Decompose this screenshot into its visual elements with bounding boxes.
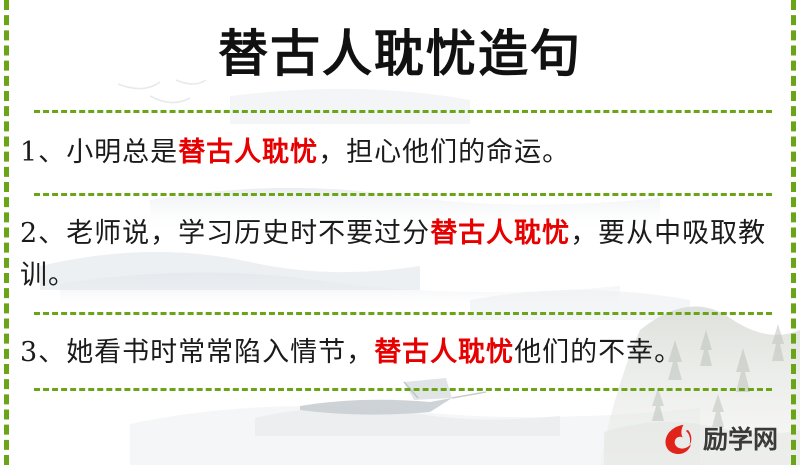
sentence-2-before: 老师说，学习历史时不要过分: [66, 218, 430, 249]
separator-top: [34, 110, 772, 113]
sentence-item-2: 2、老师说，学习历史时不要过分替古人耽忧，要从中吸取教训。: [20, 213, 774, 297]
frame-border-left: [4, 0, 9, 465]
sentence-1-index: 1、: [20, 137, 66, 168]
page-title: 替古人耽忧造句: [0, 14, 800, 86]
sentence-3-before: 她看书时常常陷入情节，: [66, 337, 374, 368]
sentence-item-3: 3、她看书时常常陷入情节，替古人耽忧他们的不幸。: [20, 332, 774, 374]
watermark-brand-text: 励学网: [703, 427, 778, 452]
sentence-3-after: 他们的不幸。: [514, 337, 682, 368]
sentence-3-keyword: 替古人耽忧: [374, 337, 514, 368]
sentence-1-after: ，担心他们的命运。: [318, 137, 570, 168]
sentence-worksheet-page: 替古人耽忧造句 1、小明总是替古人耽忧，担心他们的命运。 2、老师说，学习历史时…: [0, 0, 800, 465]
separator-after-sentence-2: [34, 312, 772, 315]
sentence-2-keyword: 替古人耽忧: [430, 218, 570, 249]
sentence-3-index: 3、: [20, 337, 66, 368]
sentence-item-1: 1、小明总是替古人耽忧，担心他们的命运。: [20, 132, 774, 174]
separator-bottom: [34, 388, 772, 391]
separator-after-sentence-1: [34, 193, 772, 196]
sentence-1-before: 小明总是: [66, 137, 178, 168]
flame-swirl-icon: [661, 421, 697, 457]
sentence-1-keyword: 替古人耽忧: [178, 137, 318, 168]
sentence-2-index: 2、: [20, 218, 66, 249]
watermark-logo: 励学网: [661, 421, 778, 457]
frame-border-right: [791, 0, 796, 465]
